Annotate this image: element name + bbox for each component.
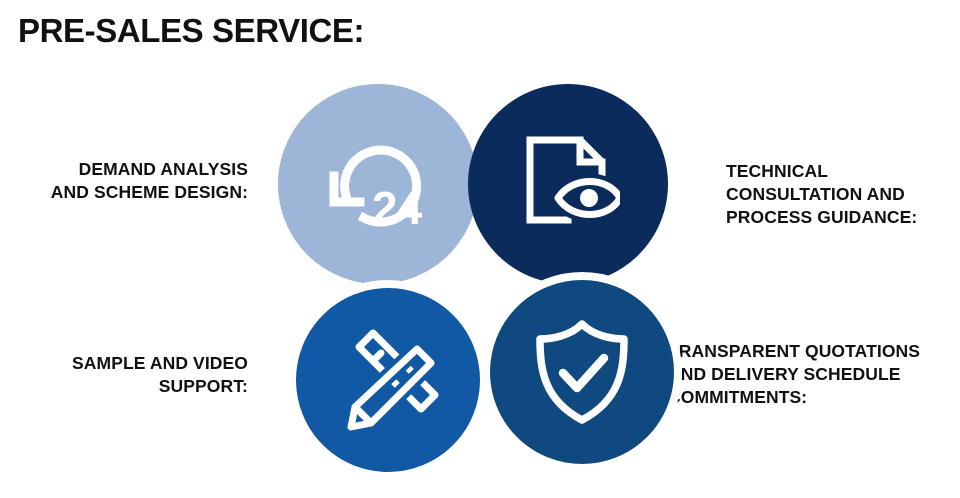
circle-demand-analysis[interactable]: 24 [278, 84, 478, 284]
pencil-ruler-icon [335, 327, 441, 433]
label-line: TECHNICAL [726, 160, 958, 183]
label-line: SUPPORT: [0, 375, 248, 398]
svg-text:24: 24 [372, 182, 423, 234]
label-sample-video-support: SAMPLE AND VIDEO SUPPORT: [0, 352, 248, 398]
label-transparent-quotations: TRANSPARENT QUOTATIONS AND DELIVERY SCHE… [668, 340, 960, 409]
service-circle-cluster: 24 [278, 84, 682, 482]
circle-technical-consultation[interactable] [468, 84, 668, 284]
label-line: PROCESS GUIDANCE: [726, 206, 958, 229]
label-line: AND SCHEME DESIGN: [0, 181, 248, 204]
shield-check-icon [532, 318, 632, 426]
label-line: SAMPLE AND VIDEO [0, 352, 248, 375]
circle-sample-video-support[interactable] [288, 280, 488, 480]
label-line: DEMAND ANALYSIS [0, 158, 248, 181]
label-technical-consultation: TECHNICAL CONSULTATION AND PROCESS GUIDA… [726, 160, 958, 229]
label-line: AND DELIVERY SCHEDULE [668, 363, 960, 386]
document-eye-icon [516, 132, 620, 236]
24-hour-rotate-arrow-icon: 24 [324, 134, 432, 234]
circle-transparent-quotations[interactable] [482, 272, 682, 472]
page-title: PRE-SALES SERVICE: [18, 12, 364, 50]
label-line: CONSULTATION AND [726, 183, 958, 206]
label-demand-analysis: DEMAND ANALYSIS AND SCHEME DESIGN: [0, 158, 248, 204]
label-line: TRANSPARENT QUOTATIONS [668, 340, 960, 363]
label-line: COMMITMENTS: [668, 386, 960, 409]
